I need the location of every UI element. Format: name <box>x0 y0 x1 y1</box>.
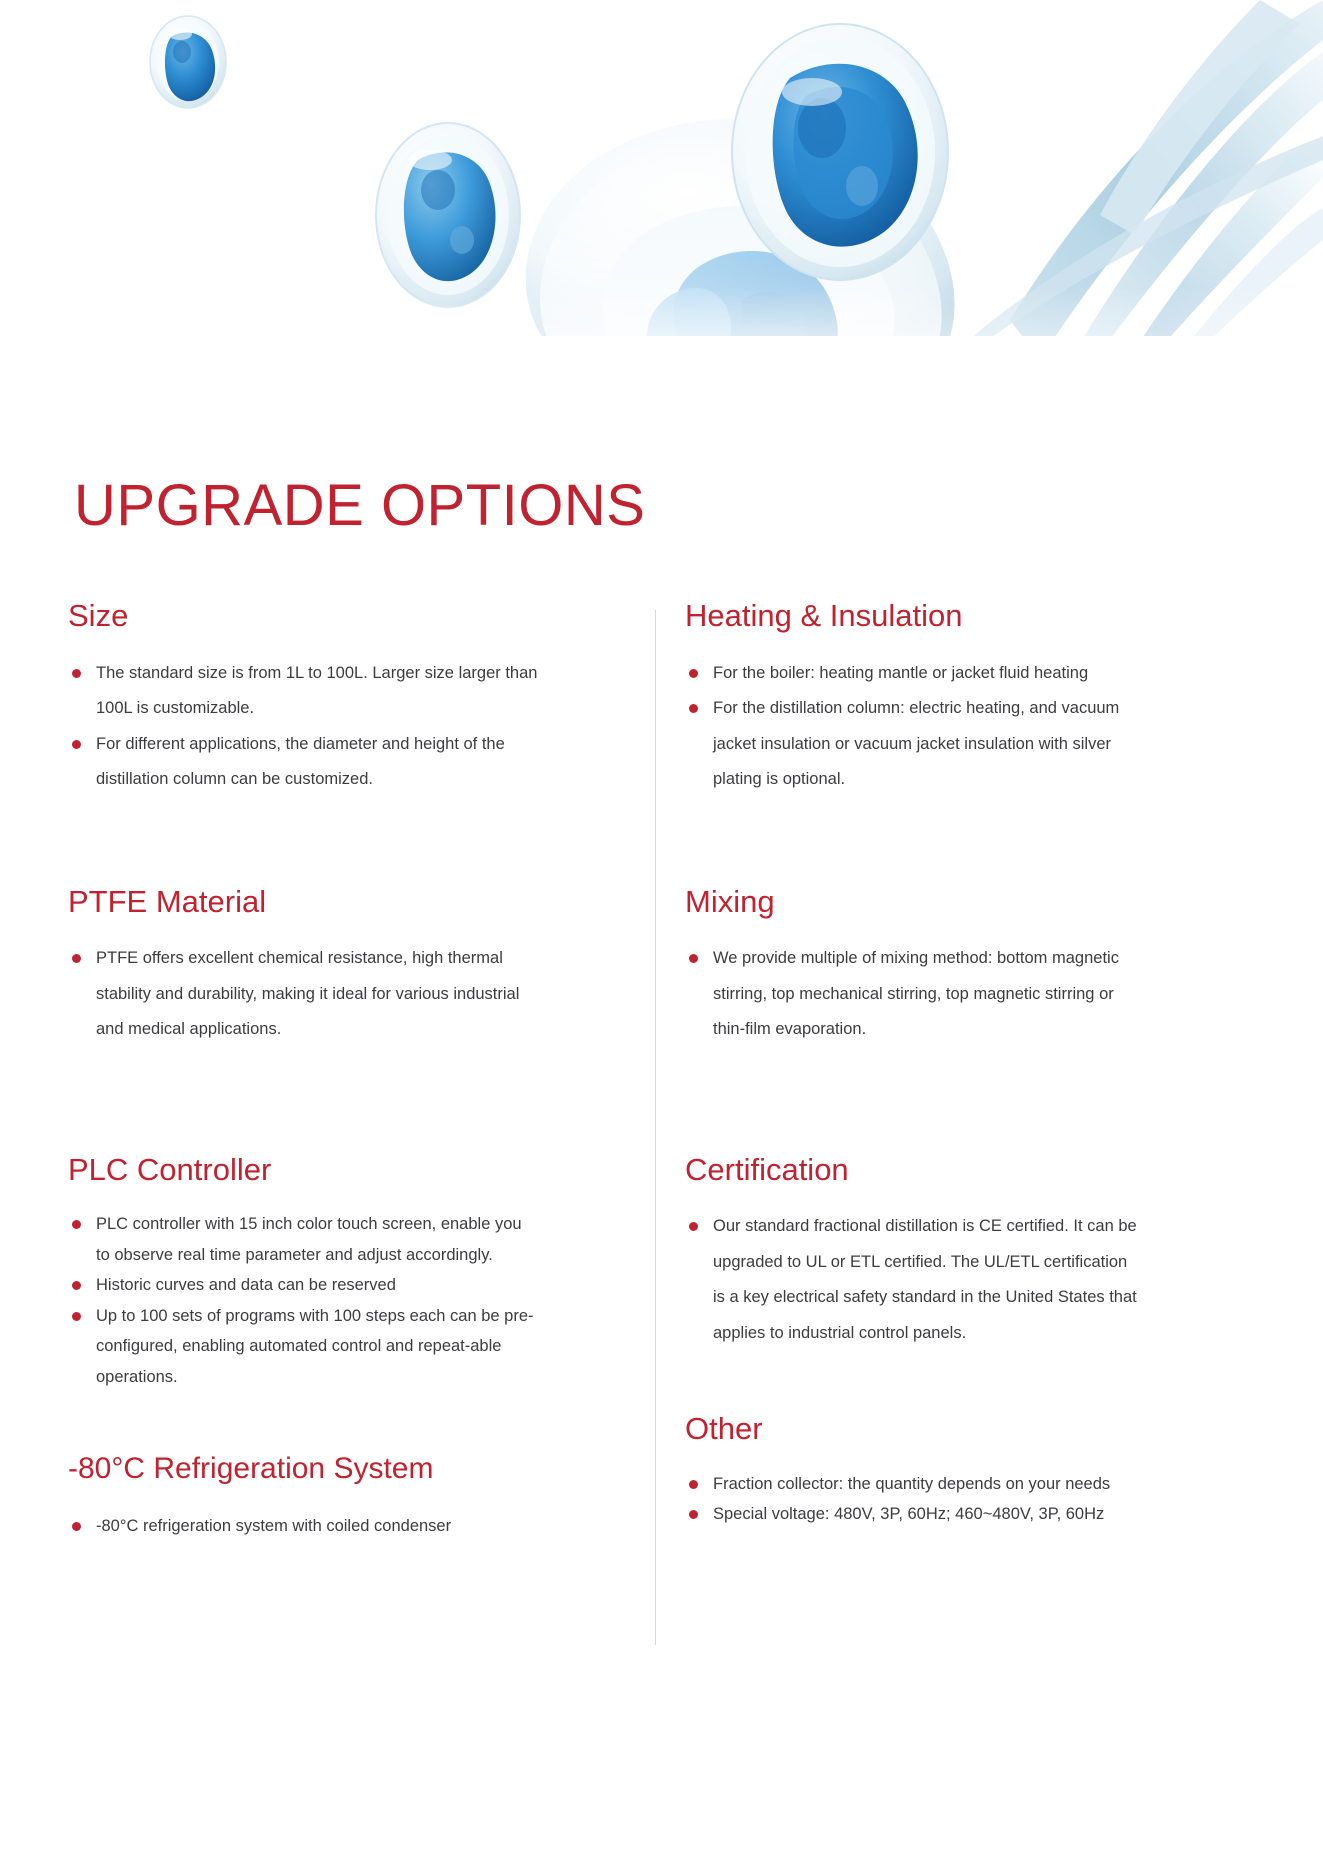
section-heading-heating-insulation: Heating & Insulation <box>685 598 1140 634</box>
left-column: Size The standard size is from 1L to 100… <box>68 598 538 1544</box>
list-item: Fraction collector: the quantity depends… <box>685 1469 1140 1500</box>
bullet-list-refrigeration-system: -80°C refrigeration system with coiled c… <box>68 1509 538 1544</box>
bubble-medium <box>376 123 520 307</box>
section-mixing: Mixing We provide multiple of mixing met… <box>685 884 1140 1048</box>
list-item: Up to 100 sets of programs with 100 step… <box>68 1301 538 1393</box>
section-heading-size: Size <box>68 598 538 634</box>
section-certification: Certification Our standard fractional di… <box>685 1152 1140 1352</box>
bullet-list-size: The standard size is from 1L to 100L. La… <box>68 656 538 798</box>
section-heating-insulation: Heating & Insulation For the boiler: hea… <box>685 598 1140 798</box>
list-item: Our standard fractional distillation is … <box>685 1209 1140 1351</box>
bullet-list-heating-insulation: For the boiler: heating mantle or jacket… <box>685 656 1140 798</box>
column-divider <box>655 610 656 1645</box>
spacer <box>68 1048 538 1152</box>
list-item: The standard size is from 1L to 100L. La… <box>68 656 538 727</box>
list-item: We provide multiple of mixing method: bo… <box>685 941 1140 1047</box>
list-item: For the boiler: heating mantle or jacket… <box>685 656 1140 691</box>
section-heading-certification: Certification <box>685 1152 1140 1188</box>
bullet-list-ptfe-material: PTFE offers excellent chemical resistanc… <box>68 941 538 1047</box>
spacer <box>685 1351 1140 1411</box>
section-heading-mixing: Mixing <box>685 884 1140 920</box>
list-item: Special voltage: 480V, 3P, 60Hz; 460~480… <box>685 1499 1140 1530</box>
bullet-list-certification: Our standard fractional distillation is … <box>685 1209 1140 1351</box>
section-size: Size The standard size is from 1L to 100… <box>68 598 538 798</box>
list-item: PTFE offers excellent chemical resistanc… <box>68 941 538 1047</box>
bullet-list-mixing: We provide multiple of mixing method: bo… <box>685 941 1140 1047</box>
section-refrigeration-system: -80°C Refrigeration System -80°C refrige… <box>68 1452 538 1544</box>
section-plc-controller: PLC Controller PLC controller with 15 in… <box>68 1152 538 1393</box>
document-page: UPGRADE OPTIONS Size The standard size i… <box>0 0 1323 1871</box>
bullet-list-plc-controller: PLC controller with 15 inch color touch … <box>68 1209 538 1392</box>
spacer <box>685 1048 1140 1152</box>
section-other: Other Fraction collector: the quantity d… <box>685 1411 1140 1530</box>
section-ptfe-material: PTFE Material PTFE offers excellent chem… <box>68 884 538 1048</box>
bubble-large <box>732 24 948 280</box>
abstract-bubbles-graphic <box>0 0 1323 360</box>
section-heading-ptfe-material: PTFE Material <box>68 884 538 920</box>
list-item: For different applications, the diameter… <box>68 727 538 798</box>
spacer <box>685 798 1140 884</box>
spacer <box>68 798 538 884</box>
hero-banner-image <box>0 0 1323 360</box>
section-heading-other: Other <box>685 1411 1140 1447</box>
section-heading-plc-controller: PLC Controller <box>68 1152 538 1188</box>
list-item: Historic curves and data can be reserved <box>68 1270 538 1301</box>
list-item: PLC controller with 15 inch color touch … <box>68 1209 538 1270</box>
bullet-list-other: Fraction collector: the quantity depends… <box>685 1469 1140 1530</box>
list-item: -80°C refrigeration system with coiled c… <box>68 1509 538 1544</box>
bubble-small <box>150 16 226 108</box>
spacer <box>68 1392 538 1452</box>
page-title: UPGRADE OPTIONS <box>74 476 645 537</box>
right-column: Heating & Insulation For the boiler: hea… <box>685 598 1140 1530</box>
list-item: For the distillation column: electric he… <box>685 691 1140 797</box>
section-heading-refrigeration-system: -80°C Refrigeration System <box>68 1452 538 1487</box>
